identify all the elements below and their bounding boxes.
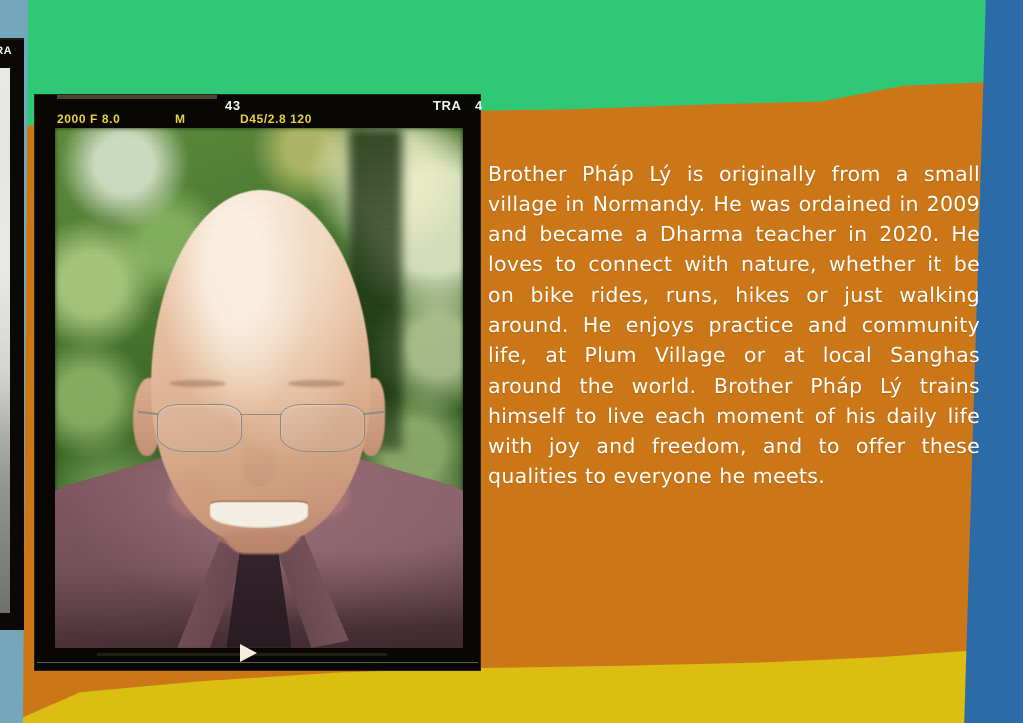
film-top-info-bar: 2000 F 8.0 M D45/2.8 120 43 TRA 4 (35, 98, 480, 128)
play-triangle-icon[interactable] (240, 644, 257, 662)
film-bottom-bar (35, 648, 480, 670)
film-frame: 2000 F 8.0 M D45/2.8 120 43 TRA 4 (35, 95, 480, 670)
film-brand-partial-label: 4 (475, 98, 483, 113)
slide-canvas: TRA 2000 F 8.0 M D45/2.8 120 43 TRA 4 (0, 0, 1023, 723)
lens-left (157, 404, 242, 453)
partial-film-frame: TRA (0, 38, 24, 630)
lens-right (280, 404, 365, 453)
partial-film-photo (0, 68, 10, 613)
glasses-bridge (240, 414, 282, 416)
lens-info-label: D45/2.8 120 (240, 112, 312, 126)
nose (243, 440, 276, 487)
biography-text: Brother Pháp Lý is originally from a sma… (488, 159, 980, 492)
metering-mode-label: M (175, 112, 186, 126)
film-brand-label: TRA (433, 98, 462, 113)
frame-number-label: 43 (225, 98, 241, 113)
monk-portrait-photo (55, 128, 463, 648)
lower-lip (218, 531, 300, 547)
film-hairline (37, 662, 478, 663)
partial-film-brand-label: TRA (0, 45, 12, 57)
shutter-aperture-label: 2000 F 8.0 (57, 112, 120, 126)
